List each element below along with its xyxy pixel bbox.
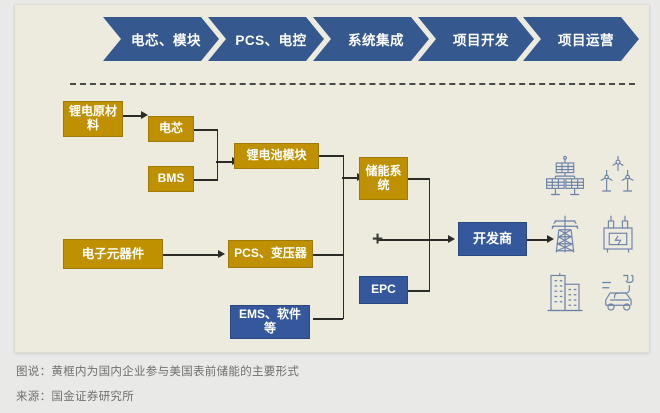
node-pcs-transformer: PCS、变压器: [228, 240, 313, 268]
connector-epc-out: [408, 290, 430, 292]
transformer-icon: [597, 212, 639, 258]
node-ems-software: EMS、软件等: [230, 305, 310, 339]
node-electronic-component: 电子元器件: [63, 239, 163, 269]
node-raw-material: 锂电原材料: [63, 101, 123, 137]
connector-pcs-out: [313, 254, 343, 256]
arrowhead-raw-to-cell: [141, 111, 148, 119]
node-label: EPC: [371, 283, 396, 297]
connector-cell-out: [193, 129, 218, 131]
connector-module-out: [318, 155, 344, 157]
node-developer: 开发商: [458, 222, 527, 256]
connector-cell-down: [217, 129, 219, 161]
node-label: PCS、变压器: [234, 247, 307, 261]
node-epc: EPC: [359, 276, 408, 304]
node-label: EMS、软件等: [235, 308, 305, 336]
connector-storage-out: [408, 178, 430, 180]
connector-pcs-up: [343, 177, 345, 255]
connector-bms-out: [193, 179, 218, 181]
banner-step-label: 系统集成: [338, 29, 404, 49]
banner-step-1: 电芯、模块: [103, 17, 219, 61]
caption-source: 来源：国金证券研究所: [16, 388, 134, 404]
solar-panel-icon: [544, 154, 586, 200]
connector-module-down: [343, 155, 345, 177]
plus-operator: +: [372, 230, 383, 249]
dashed-divider: [70, 83, 635, 85]
buildings-icon: [544, 270, 586, 316]
application-icon-panel: [538, 148, 645, 322]
banner-step-label: 项目开发: [443, 29, 509, 49]
diagram-card: 电芯、模块 PCS、电控 系统集成 项目开发 项目运营: [14, 4, 650, 353]
banner-step-label: PCS、电控: [225, 29, 306, 49]
caption-note: 图说：黄框内为国内企业参与美国表前储能的主要形式: [16, 363, 299, 379]
node-bms: BMS: [148, 166, 194, 192]
node-label: 开发商: [473, 232, 512, 247]
banner-step-5: 项目运营: [523, 17, 639, 61]
connector-merge-to-developer: [378, 239, 450, 241]
banner-step-2: PCS、电控: [208, 17, 324, 61]
node-label: 电子元器件: [82, 247, 145, 261]
node-label: 锂电原材料: [64, 105, 122, 133]
connector-storage-down: [429, 178, 431, 291]
banner-step-4: 项目开发: [418, 17, 534, 61]
node-label: 锂电池模块: [246, 149, 306, 163]
arrowhead-component-to-pcs: [218, 250, 225, 258]
connector-ems-up: [343, 254, 345, 319]
node-cell: 电芯: [148, 116, 194, 142]
ev-charging-icon: [597, 270, 639, 316]
connector-ems-out: [313, 318, 343, 320]
connector-component-to-pcs: [163, 254, 220, 256]
banner-step-label: 电芯、模块: [121, 29, 201, 49]
banner-step-3: 系统集成: [313, 17, 429, 61]
node-label: BMS: [158, 172, 185, 186]
node-battery-module: 锂电池模块: [234, 143, 319, 169]
connector-bms-up: [217, 161, 219, 180]
wind-turbine-icon: [597, 154, 639, 200]
arrowhead-to-developer: [448, 235, 455, 243]
banner-step-label: 项目运营: [548, 29, 614, 49]
figure-root: 电芯、模块 PCS、电控 系统集成 项目开发 项目运营: [0, 0, 660, 413]
node-label: 电芯: [159, 122, 183, 136]
node-storage-system: 储能系统: [359, 157, 408, 200]
connector-raw-to-cell: [123, 115, 143, 117]
transmission-tower-icon: [544, 212, 586, 258]
node-label: 储能系统: [360, 165, 407, 193]
